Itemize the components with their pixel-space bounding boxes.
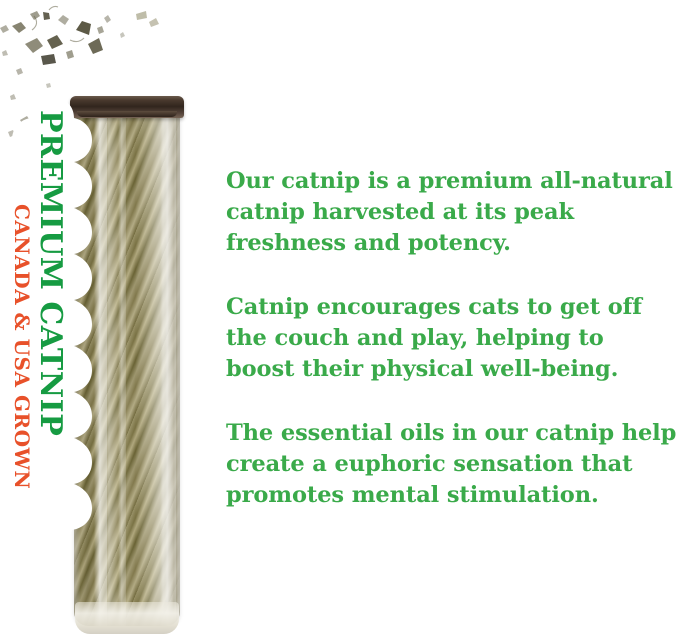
marketing-copy: Our catnip is a premium all-natural catn… xyxy=(226,166,678,511)
glass-highlight xyxy=(118,112,126,626)
glass-highlight xyxy=(160,112,176,626)
tube-base xyxy=(75,602,179,634)
label-origin-text: CANADA & USA GROWN xyxy=(10,204,34,489)
copy-paragraph-2: Catnip encourages cats to get off the co… xyxy=(226,292,678,385)
copy-paragraph-3: The essential oils in our catnip help cr… xyxy=(226,418,678,511)
label-product-name: PREMIUM CATNIP xyxy=(33,110,68,436)
product-label: CANADA & USA GROWN PREMIUM CATNIP xyxy=(8,96,96,546)
copy-paragraph-1: Our catnip is a premium all-natural catn… xyxy=(226,166,678,259)
